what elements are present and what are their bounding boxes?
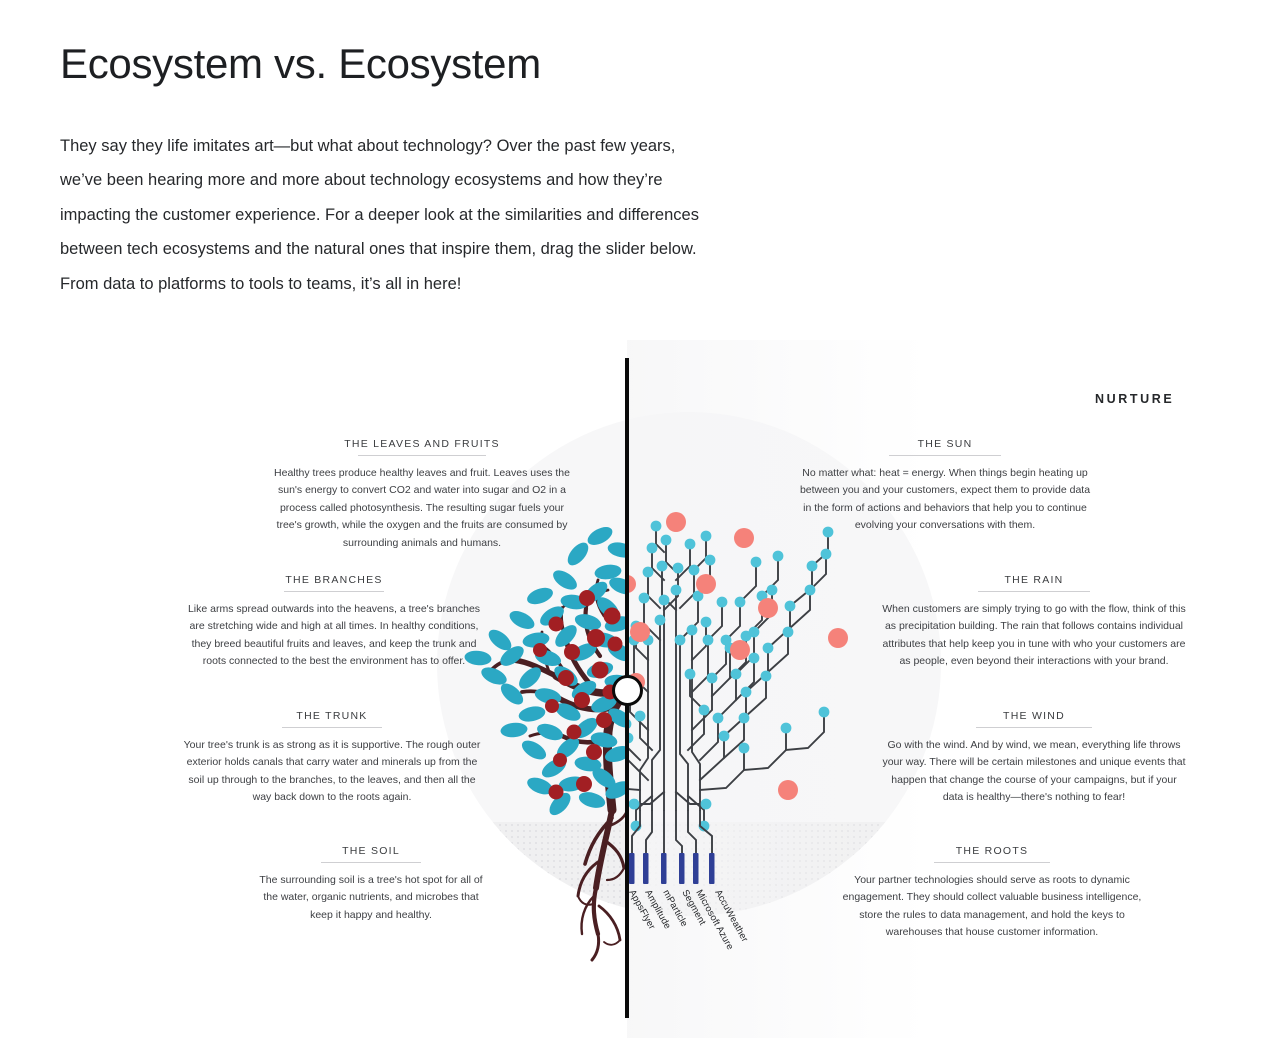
section-heading: THE BRANCHES (184, 574, 484, 591)
section-the-rain: THE RAIN When customers are simply tryin… (880, 574, 1188, 671)
heading-rule (976, 727, 1092, 728)
section-the-leaves-and-fruits: THE LEAVES AND FRUITS Healthy trees prod… (268, 438, 576, 552)
section-body: Your tree's trunk is as strong as it is … (182, 737, 482, 807)
section-heading: THE TRUNK (182, 710, 482, 727)
section-body: No matter what: heat = energy. When thin… (795, 465, 1095, 535)
section-the-roots: THE ROOTS Your partner technologies shou… (842, 845, 1142, 942)
section-the-sun: THE SUN No matter what: heat = energy. W… (795, 438, 1095, 535)
connector-pins (629, 853, 715, 884)
section-body: Healthy trees produce healthy leaves and… (268, 465, 576, 552)
section-body: Your partner technologies should serve a… (842, 872, 1142, 942)
section-heading: THE SUN (795, 438, 1095, 455)
heading-rule (934, 862, 1050, 863)
heading-rule (358, 455, 486, 456)
heading-rule (978, 591, 1090, 592)
section-heading: THE SOIL (258, 845, 484, 862)
comparison-slider-handle[interactable] (612, 675, 643, 706)
ecosystem-comparison-illustration[interactable]: NURTURE (0, 340, 1282, 1038)
section-heading: THE WIND (880, 710, 1188, 727)
section-heading: THE LEAVES AND FRUITS (268, 438, 576, 455)
natural-tree (464, 523, 637, 960)
section-heading: THE ROOTS (842, 845, 1142, 862)
section-body: Like arms spread outwards into the heave… (184, 601, 484, 671)
heading-rule (282, 727, 382, 728)
section-the-wind: THE WIND Go with the wind. And by wind, … (880, 710, 1188, 807)
section-body: The surrounding soil is a tree's hot spo… (258, 872, 484, 924)
section-the-soil: THE SOIL The surrounding soil is a tree'… (258, 845, 484, 924)
section-the-branches: THE BRANCHES Like arms spread outwards i… (184, 574, 484, 671)
heading-rule (284, 591, 384, 592)
heading-rule (321, 862, 421, 863)
section-heading: THE RAIN (880, 574, 1188, 591)
section-the-trunk: THE TRUNK Your tree's trunk is as strong… (182, 710, 482, 807)
section-body: Go with the wind. And by wind, we mean, … (880, 737, 1188, 807)
page-title: Ecosystem vs. Ecosystem (60, 40, 541, 88)
section-body: When customers are simply trying to go w… (880, 601, 1188, 671)
intro-paragraph: They say they life imitates art—but what… (60, 129, 700, 302)
heading-rule (889, 455, 1001, 456)
